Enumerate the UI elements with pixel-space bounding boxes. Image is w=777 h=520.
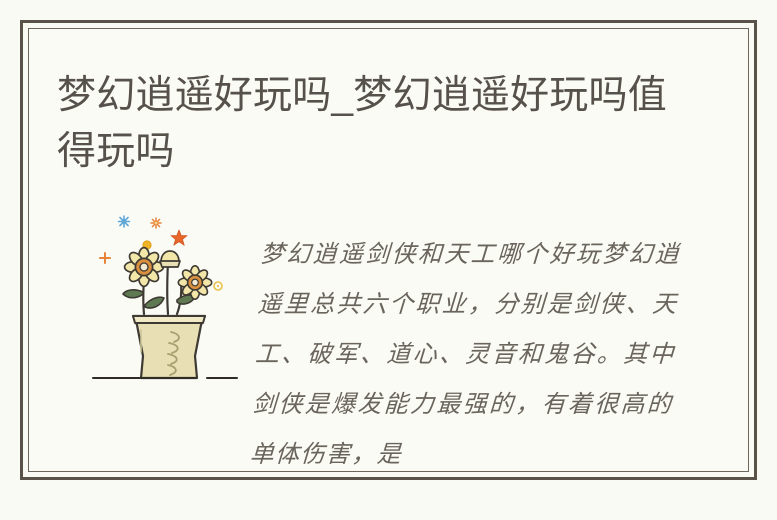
cross-sparkle [100, 253, 110, 263]
flower-bud [160, 251, 180, 267]
ring-sparkle [214, 282, 222, 290]
article-paragraph: 梦幻逍遥剑侠和天工哪个好玩梦幻逍遥里总共六个职业，分别是剑侠、天工、破军、道心、… [248, 229, 681, 479]
snowflake-sparkle [119, 216, 130, 227]
sunflower-left [125, 248, 164, 287]
sunflower-right [178, 266, 211, 299]
star-sparkle [171, 230, 187, 245]
article-inner-frame: 梦幻逍遥好玩吗_梦幻逍遥好玩吗值得玩吗 [28, 28, 749, 472]
flower-vase-illustration [85, 206, 245, 391]
flower-vase [133, 316, 205, 378]
article-card: 梦幻逍遥好玩吗_梦幻逍遥好玩吗值得玩吗 [20, 20, 757, 480]
article-body: 梦幻逍遥剑侠和天工哪个好玩梦幻逍遥里总共六个职业，分别是剑侠、天工、破军、道心、… [57, 194, 730, 461]
flower-sparkle [151, 218, 161, 228]
page-title: 梦幻逍遥好玩吗_梦幻逍遥好玩吗值得玩吗 [57, 68, 697, 180]
